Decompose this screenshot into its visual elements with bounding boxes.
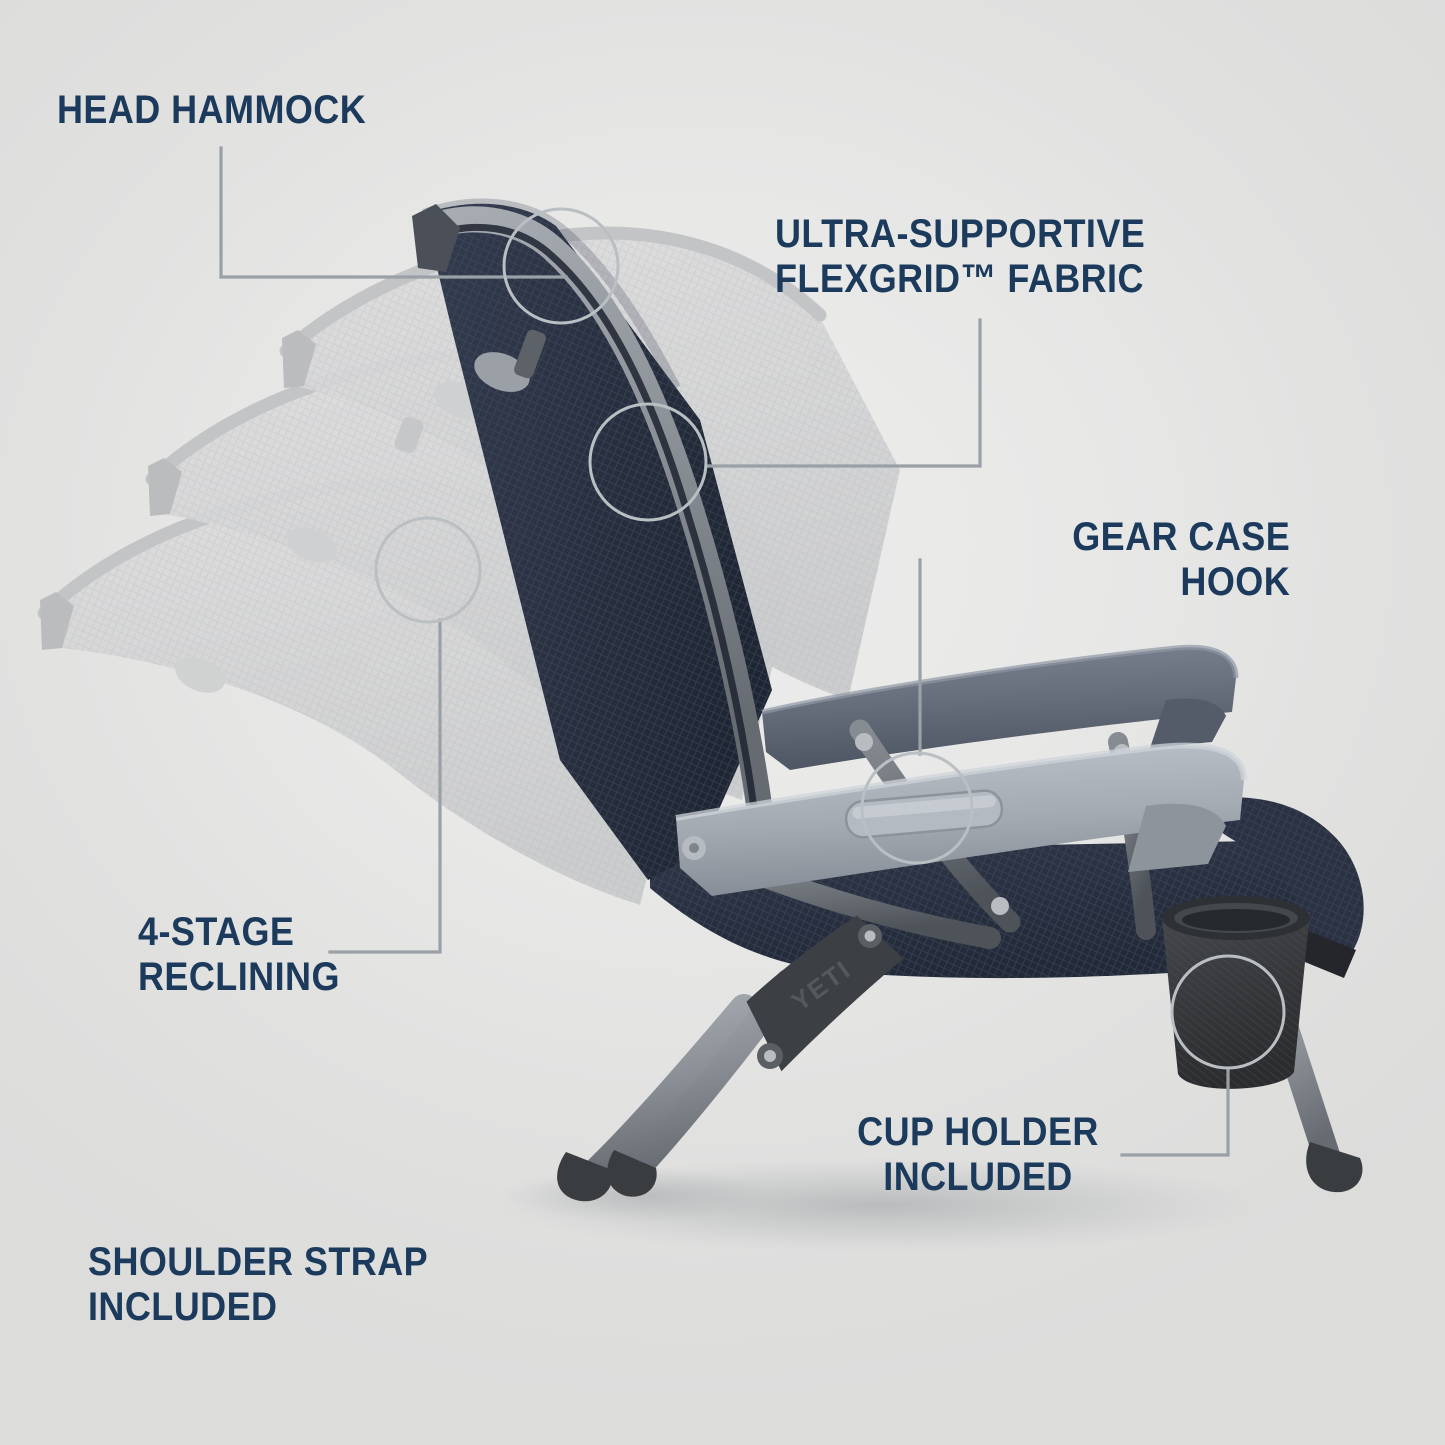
callout-label-flexgrid-fabric: ULTRA-SUPPORTIVE FLEXGRID™ FABRIC bbox=[775, 212, 1145, 302]
callout-label-head-hammock: HEAD HAMMOCK bbox=[57, 88, 366, 133]
callout-label-4-stage-reclining: 4-STAGE RECLINING bbox=[138, 910, 340, 1000]
product-illustration: YETI bbox=[0, 0, 1445, 1445]
callout-label-gear-case-hook: GEAR CASE HOOK bbox=[1072, 515, 1290, 605]
cup-holder bbox=[1162, 896, 1310, 1089]
callout-label-cup-holder: CUP HOLDER INCLUDED bbox=[843, 1110, 1113, 1200]
callout-label-shoulder-strap: SHOULDER STRAP INCLUDED bbox=[88, 1240, 428, 1330]
infographic-canvas: YETI bbox=[0, 0, 1445, 1445]
